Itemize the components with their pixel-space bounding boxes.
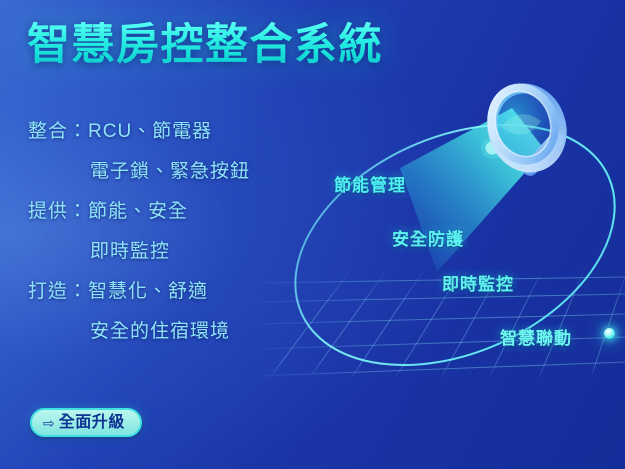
arrow-right-icon: ⇨ xyxy=(43,416,55,430)
copy-line: 打造：智慧化、舒適 xyxy=(28,272,298,312)
upgrade-badge-label: 全面升級 xyxy=(59,415,125,431)
page-title: 智慧房控整合系統 xyxy=(27,22,383,69)
callout-label-security: 安全防護 xyxy=(392,225,464,250)
upgrade-badge[interactable]: ⇨ 全面升級 xyxy=(30,408,142,437)
orbit-endpoint-dot xyxy=(604,328,615,339)
copy-line: 電子鎖、緊急按鈕 xyxy=(28,152,298,192)
copy-line: 即時監控 xyxy=(28,232,298,272)
slide-canvas: 智慧房控整合系統 整合：RCU、節電器 電子鎖、緊急按鈕 提供：節能、安全 即時… xyxy=(0,0,625,469)
body-copy: 整合：RCU、節電器 電子鎖、緊急按鈕 提供：節能、安全 即時監控 打造：智慧化… xyxy=(28,112,298,352)
callout-label-monitoring: 即時監控 xyxy=(442,270,514,295)
copy-line: 提供：節能、安全 xyxy=(28,192,298,232)
copy-line: 整合：RCU、節電器 xyxy=(28,112,298,152)
copy-line: 安全的住宿環境 xyxy=(28,312,298,352)
magnifier-icon xyxy=(455,72,625,202)
callout-label-energy: 節能管理 xyxy=(334,171,406,196)
callout-label-smart-link: 智慧聯動 xyxy=(500,324,572,349)
